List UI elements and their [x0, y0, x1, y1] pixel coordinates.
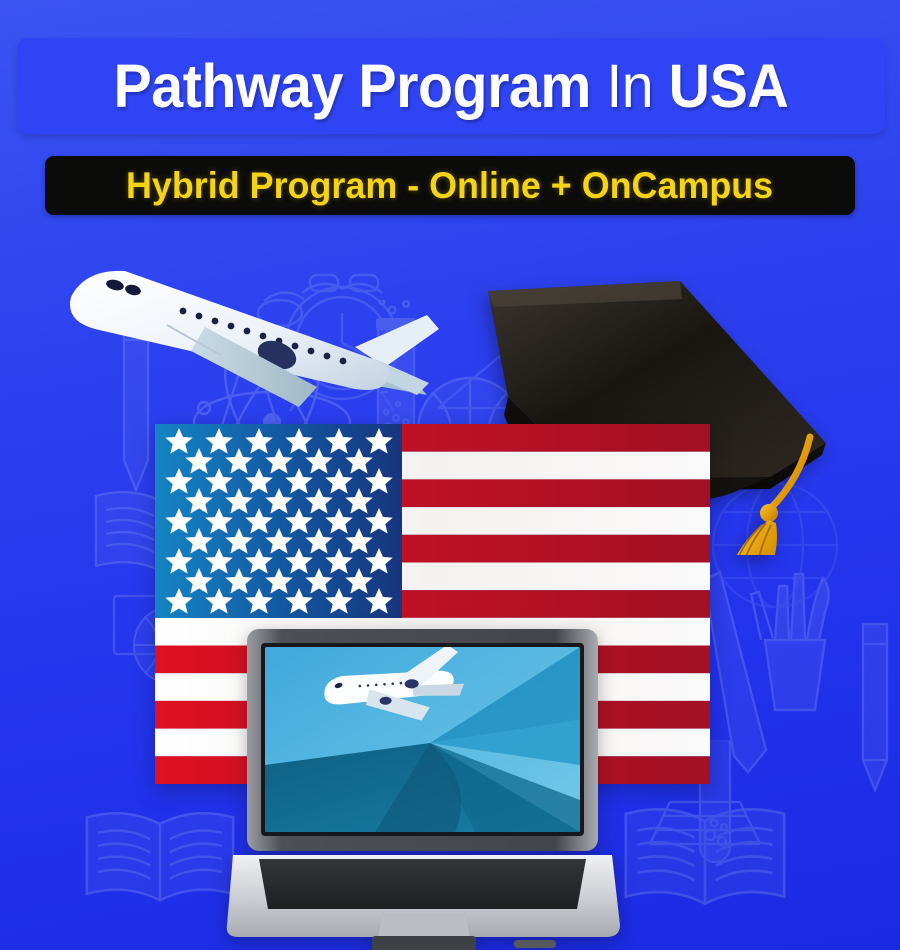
title-main: Pathway Program — [114, 52, 607, 120]
poster-root: Pathway Program In USA Hybrid Program - … — [0, 0, 900, 950]
subtitle-banner: Hybrid Program - Online + OnCampus — [45, 156, 855, 215]
title-country: USA — [669, 52, 789, 120]
airplane-illustration — [55, 255, 455, 435]
title-connector: In — [606, 52, 668, 120]
subtitle-text: Hybrid Program - Online + OnCampus — [126, 167, 773, 204]
page-title: Pathway Program In USA — [114, 56, 789, 117]
laptop-illustration — [225, 625, 620, 950]
artwork-stage — [0, 225, 900, 950]
title-banner: Pathway Program In USA — [17, 38, 885, 134]
